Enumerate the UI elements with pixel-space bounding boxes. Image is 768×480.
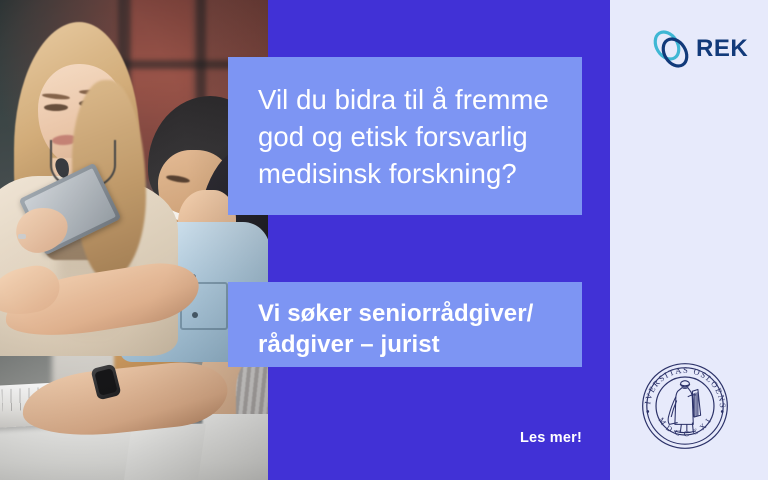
headline-line-3: medisinsk forskning? xyxy=(258,155,556,192)
seal-bottom-text: M D C C C X I xyxy=(657,416,714,438)
shirt-button xyxy=(192,312,198,318)
job-title-line-1: Vi søker seniorrådgiver/ xyxy=(258,298,562,329)
headline-line-2: god og etisk forsvarlig xyxy=(258,118,556,155)
headline-line-1: Vil du bidra til å fremme xyxy=(258,81,556,118)
person-woman-left-eye xyxy=(44,104,68,111)
rek-interlocking-ellipses-icon xyxy=(650,28,694,70)
rek-wordmark: REK xyxy=(696,37,748,61)
read-more-link[interactable]: Les mer! xyxy=(430,430,582,446)
recruitment-banner: Vil du bidra til å fremme god og etisk f… xyxy=(0,0,768,480)
headline-callout: Vil du bidra til å fremme god og etisk f… xyxy=(228,57,582,215)
uio-seal: UNIVERSITAS OSLOENSIS M D C C C X I xyxy=(639,360,731,452)
rek-logo[interactable]: REK xyxy=(650,26,744,72)
universitas-osloensis-seal-icon: UNIVERSITAS OSLOENSIS M D C C C X I xyxy=(639,360,731,452)
job-title-callout: Vi søker seniorrådgiver/ rådgiver – juri… xyxy=(228,282,582,367)
job-title-line-2: rådgiver – jurist xyxy=(258,329,562,360)
laptop xyxy=(124,424,206,480)
seal-top-text: UNIVERSITAS OSLOENSIS xyxy=(639,360,728,409)
finger-ring xyxy=(18,234,26,239)
seal-figure xyxy=(668,381,701,433)
